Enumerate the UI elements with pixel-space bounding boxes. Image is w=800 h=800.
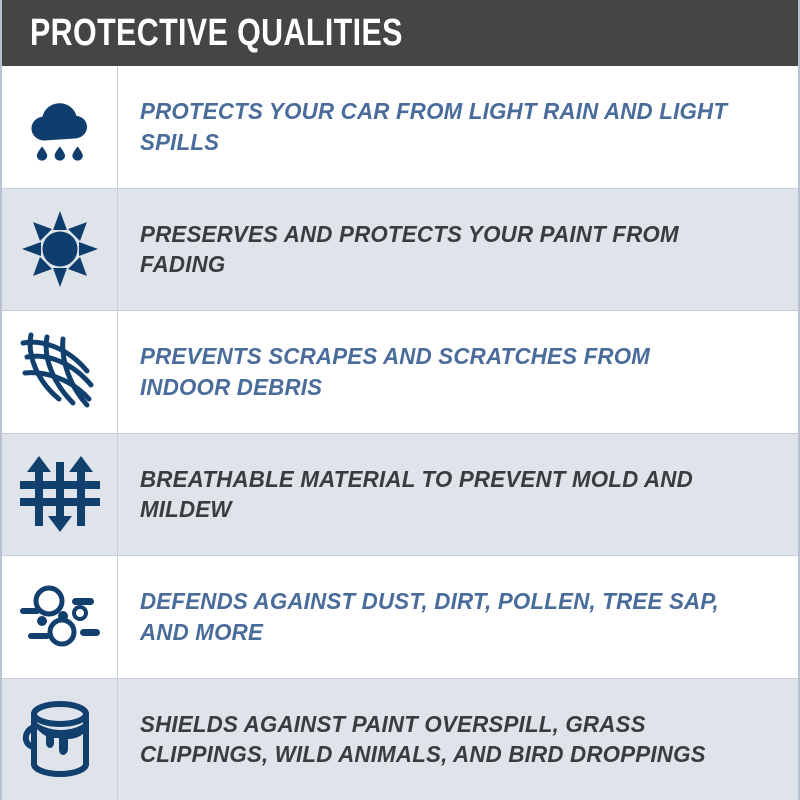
icon-cell <box>2 679 118 800</box>
text-cell: PRESERVES AND PROTECTS YOUR PAINT FROM F… <box>118 189 798 311</box>
mesh-net-icon <box>17 329 103 415</box>
icon-cell <box>2 311 118 433</box>
text-cell: SHIELDS AGAINST PAINT OVERSPILL, GRASS C… <box>118 679 798 800</box>
feature-row-sun: PRESERVES AND PROTECTS YOUR PAINT FROM F… <box>2 189 798 312</box>
protective-qualities-infographic: PROTECTIVE QUALITIES PROTECTS YOUR CAR F… <box>0 0 800 800</box>
feature-text: PREVENTS SCRAPES AND SCRATCHES FROM INDO… <box>140 341 745 402</box>
header-bar: PROTECTIVE QUALITIES <box>2 0 798 66</box>
feature-text: PROTECTS YOUR CAR FROM LIGHT RAIN AND LI… <box>140 96 745 157</box>
text-cell: PROTECTS YOUR CAR FROM LIGHT RAIN AND LI… <box>118 66 798 188</box>
icon-cell <box>2 189 118 311</box>
icon-cell <box>2 66 118 188</box>
feature-text: PRESERVES AND PROTECTS YOUR PAINT FROM F… <box>140 219 745 280</box>
feature-row-breathable: BREATHABLE MATERIAL TO PREVENT MOLD AND … <box>2 434 798 557</box>
icon-cell <box>2 556 118 678</box>
text-cell: PREVENTS SCRAPES AND SCRATCHES FROM INDO… <box>118 311 798 433</box>
breathable-airflow-arrows-icon <box>18 452 102 536</box>
feature-text: SHIELDS AGAINST PAINT OVERSPILL, GRASS C… <box>140 709 745 770</box>
rain-cloud-icon <box>23 90 97 164</box>
icon-cell <box>2 434 118 556</box>
text-cell: BREATHABLE MATERIAL TO PREVENT MOLD AND … <box>118 434 798 556</box>
text-cell: DEFENDS AGAINST DUST, DIRT, POLLEN, TREE… <box>118 556 798 678</box>
feature-rows: PROTECTS YOUR CAR FROM LIGHT RAIN AND LI… <box>2 66 798 800</box>
feature-row-dust: DEFENDS AGAINST DUST, DIRT, POLLEN, TREE… <box>2 556 798 679</box>
feature-text: DEFENDS AGAINST DUST, DIRT, POLLEN, TREE… <box>140 586 745 647</box>
feature-row-paint: SHIELDS AGAINST PAINT OVERSPILL, GRASS C… <box>2 679 798 800</box>
feature-row-rain: PROTECTS YOUR CAR FROM LIGHT RAIN AND LI… <box>2 66 798 189</box>
paint-can-icon <box>18 697 102 781</box>
sun-icon <box>20 209 100 289</box>
dust-particles-icon <box>16 579 104 655</box>
feature-row-scratches: PREVENTS SCRAPES AND SCRATCHES FROM INDO… <box>2 311 798 434</box>
feature-text: BREATHABLE MATERIAL TO PREVENT MOLD AND … <box>140 464 745 525</box>
page-title: PROTECTIVE QUALITIES <box>30 14 403 52</box>
